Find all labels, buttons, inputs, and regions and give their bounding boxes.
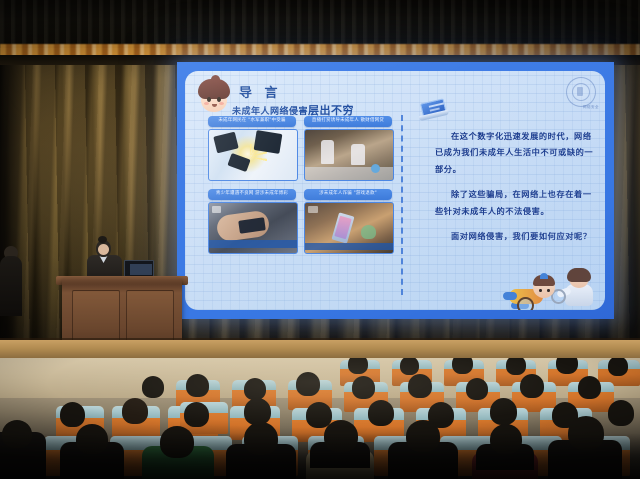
thumbnail-caption: 未成年网民在 "水军兼职"中受骗 xyxy=(208,116,296,127)
projection-screen: 导 言 未成年人网络侵害层出不穷 网络安全 未成年网民在 "水军兼职"中受骗 青… xyxy=(177,62,614,319)
thumbnail-caption: 青少年遭遇不良网 游涉未成年博彩 xyxy=(208,189,296,200)
thumbnail-caption: 直播打赏诱导未成年人 散财借网贷 xyxy=(304,116,392,127)
magnifier-lens-icon xyxy=(517,297,534,310)
news-photo-livestream xyxy=(304,129,394,181)
auditorium-scene: 导 言 未成年人网络侵害层出不穷 网络安全 未成年网民在 "水军兼职"中受骗 青… xyxy=(0,0,640,479)
side-attendee xyxy=(0,256,22,316)
audience-foreground-shadow xyxy=(0,433,640,479)
news-photo-smartphone xyxy=(304,202,394,254)
cartoon-boy-mascot-icon xyxy=(197,79,231,113)
slide-title: 导 言 xyxy=(239,82,282,101)
slide-paragraph-2: 除了这些骗局，在网络上也存在着一些针对未成年人的不法侵害。 xyxy=(435,186,595,219)
seal-caption: 网络安全 xyxy=(583,105,599,110)
dashed-divider xyxy=(401,115,403,295)
cartoon-children-illustration xyxy=(491,258,601,310)
news-photo-device-hands xyxy=(208,202,298,254)
slide-paragraph-1: 在这个数字化迅速发展的时代，网络已成为我们未成年人生活中不可或缺的一部分。 xyxy=(435,128,595,177)
slide-canvas: 导 言 未成年人网络侵害层出不穷 网络安全 未成年网民在 "水军兼职"中受骗 青… xyxy=(185,71,605,310)
slide-body-text: 在这个数字化迅速发展的时代，网络已成为我们未成年人生活中不可或缺的一部分。 除了… xyxy=(435,128,595,253)
cartoon-girl-figure xyxy=(561,270,599,306)
organization-seal-icon xyxy=(566,77,596,107)
slide-paragraph-3: 面对网络侵害，我们要如何应对呢？ xyxy=(435,228,595,244)
seated-student-audience xyxy=(0,358,640,479)
cartoon-boy-figure xyxy=(509,278,555,308)
thumbnail-caption: 涉未成年人诈骗 "游戏退款" xyxy=(304,189,392,200)
cartoon-scam-illustration xyxy=(208,129,298,181)
